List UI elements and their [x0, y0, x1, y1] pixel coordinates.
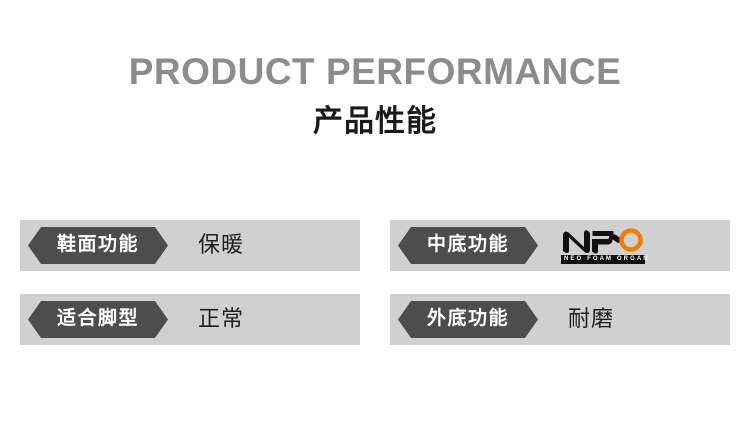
spec-value-text: 耐磨 — [568, 309, 614, 331]
spec-row: 适合脚型 正常 外底功能 耐磨 — [20, 294, 730, 345]
spec-item-upper-function: 鞋面功能 保暖 — [20, 220, 360, 271]
spec-label-badge: 鞋面功能 — [28, 227, 168, 264]
spec-label-text: 适合脚型 — [57, 309, 139, 328]
page-title-english: PRODUCT PERFORMANCE — [0, 0, 750, 94]
spec-item-outsole-function: 外底功能 耐磨 — [390, 294, 730, 345]
nfo-logo: NEO FOAM ORGAN — [561, 228, 645, 264]
spec-item-foot-shape: 适合脚型 正常 — [20, 294, 360, 345]
spec-label-text: 中底功能 — [427, 235, 509, 254]
spec-value-text: 保暖 — [198, 235, 244, 257]
page-title-chinese: 产品性能 — [0, 94, 750, 141]
product-performance-page: PRODUCT PERFORMANCE 产品性能 鞋面功能 保暖 中底功能 — [0, 0, 750, 447]
spec-value-text: 正常 — [198, 309, 244, 331]
spec-grid: 鞋面功能 保暖 中底功能 — [20, 220, 730, 345]
spec-item-midsole-function: 中底功能 NEO FOAM ORGAN — [390, 220, 730, 271]
page-heading: PRODUCT PERFORMANCE 产品性能 — [0, 0, 750, 141]
spec-label-text: 鞋面功能 — [57, 235, 139, 254]
nfo-logo-caption: NEO FOAM ORGAN — [561, 255, 645, 264]
spec-row: 鞋面功能 保暖 中底功能 — [20, 220, 730, 271]
nfo-wordmark-icon — [561, 228, 645, 254]
spec-label-badge: 适合脚型 — [28, 301, 168, 338]
spec-label-badge: 中底功能 — [398, 227, 538, 264]
spec-label-badge: 外底功能 — [398, 301, 538, 338]
spec-label-text: 外底功能 — [427, 309, 509, 328]
